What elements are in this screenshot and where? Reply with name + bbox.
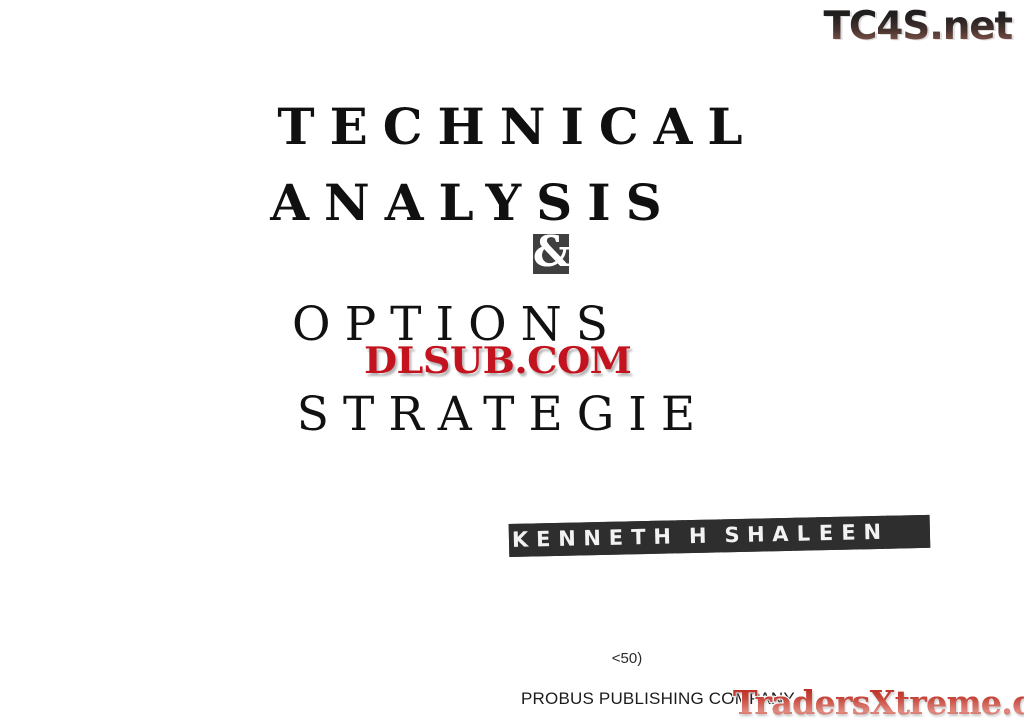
author-tile-blank: [885, 515, 930, 549]
author-tile: L: [793, 517, 815, 550]
author-tile: N: [580, 522, 604, 556]
author-tile: E: [605, 521, 627, 554]
author-tile-space: [711, 519, 721, 552]
author-tile: N: [860, 516, 884, 550]
tradersxtreme-watermark-outline: TradersXtreme.com: [733, 684, 1024, 722]
author-tile-space: [675, 520, 685, 553]
author-tile: T: [628, 521, 650, 554]
ampersand-mark: &: [533, 234, 579, 278]
page-marker: <50): [115, 650, 1024, 667]
cover-title-line-analysis: ANALYSIS: [0, 173, 978, 232]
author-tile: E: [532, 523, 554, 556]
cover-title-line-strategie: STRATEGIE: [0, 387, 1008, 442]
author-tile: E: [815, 517, 837, 550]
ampersand-glyph: &: [533, 227, 571, 277]
author-name-band: K E N N E T H H S H A L E E N: [509, 515, 930, 557]
author-tile: A: [769, 518, 792, 551]
author-tile: S: [721, 519, 743, 552]
author-tile: H: [744, 518, 768, 552]
author-tile: E: [838, 516, 860, 549]
tc4s-site-logo: TC4S.net: [823, 5, 1012, 49]
author-tile: H: [686, 520, 710, 554]
author-tile: K: [509, 524, 532, 557]
book-cover-page: TC4S.net TC4S.net TECHNICAL ANALYSIS & O…: [0, 0, 1024, 724]
author-tile: N: [555, 522, 579, 556]
dlsub-watermark: DLSUB.COM: [364, 341, 631, 381]
author-tile: H: [650, 520, 674, 554]
cover-title-line-technical: TECHNICAL: [0, 97, 1022, 156]
